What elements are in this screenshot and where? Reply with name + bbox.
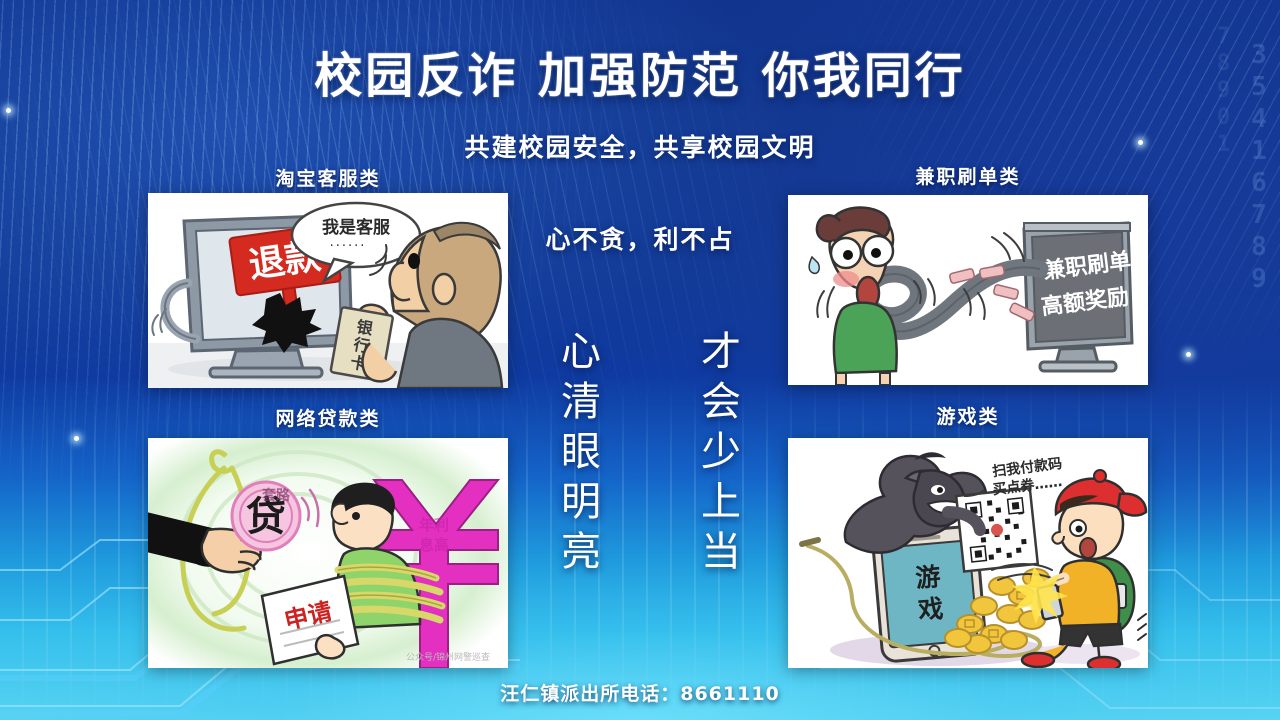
page-subtitle: 共建校园安全，共享校园文明 <box>0 128 1280 164</box>
footer-contact: 汪仁镇派出所电话：8661110 <box>0 679 1280 706</box>
vertical-slogan-left: 心清眼明亮 <box>557 330 597 580</box>
illustration-taobao-service: 退款 我是客服 ······ <box>148 193 508 388</box>
center-slogan: 心不贪，利不占 <box>520 220 760 256</box>
speech-bubble-dots: ······ <box>330 239 367 254</box>
speech-bubble-text: 我是客服 <box>322 217 391 238</box>
illustration-parttime-brushing: 兼职刷单 高额奖励 <box>788 195 1148 385</box>
category-label-online-loan: 网络贷款类 <box>148 404 508 431</box>
illustration-taobao-service-svg: 退款 我是客服 ······ <box>148 193 508 388</box>
watermark-text: 公众号/锦州网警巡查 <box>406 651 490 663</box>
phone-label-char-2: 戏 <box>916 594 944 625</box>
illustration-online-loan-svg: 年利 息高 贷 <box>148 438 508 668</box>
anti-fraud-poster: 35416789 78901 校园反诈 加强防范 你我同行 共建校园安全，共享校… <box>0 0 1280 720</box>
category-label-taobao-service: 淘宝客服类 <box>148 164 508 191</box>
category-label-parttime-brushing: 兼职刷单类 <box>788 162 1148 189</box>
phone-label-char-1: 游 <box>914 562 941 593</box>
page-title: 校园反诈 加强防范 你我同行 <box>0 36 1280 106</box>
svg-text:套路: 套路 <box>262 487 291 504</box>
vertical-slogan-right: 才会少上当 <box>697 330 737 580</box>
illustration-online-loan: 年利 息高 贷 <box>148 438 508 668</box>
illustration-game: 游 戏 <box>788 438 1148 668</box>
svg-text:息高: 息高 <box>419 536 449 554</box>
svg-text:年利: 年利 <box>419 516 449 534</box>
illustration-game-svg: 游 戏 <box>788 438 1148 668</box>
illustration-parttime-brushing-svg: 兼职刷单 高额奖励 <box>788 195 1148 385</box>
category-label-game: 游戏类 <box>788 402 1148 429</box>
